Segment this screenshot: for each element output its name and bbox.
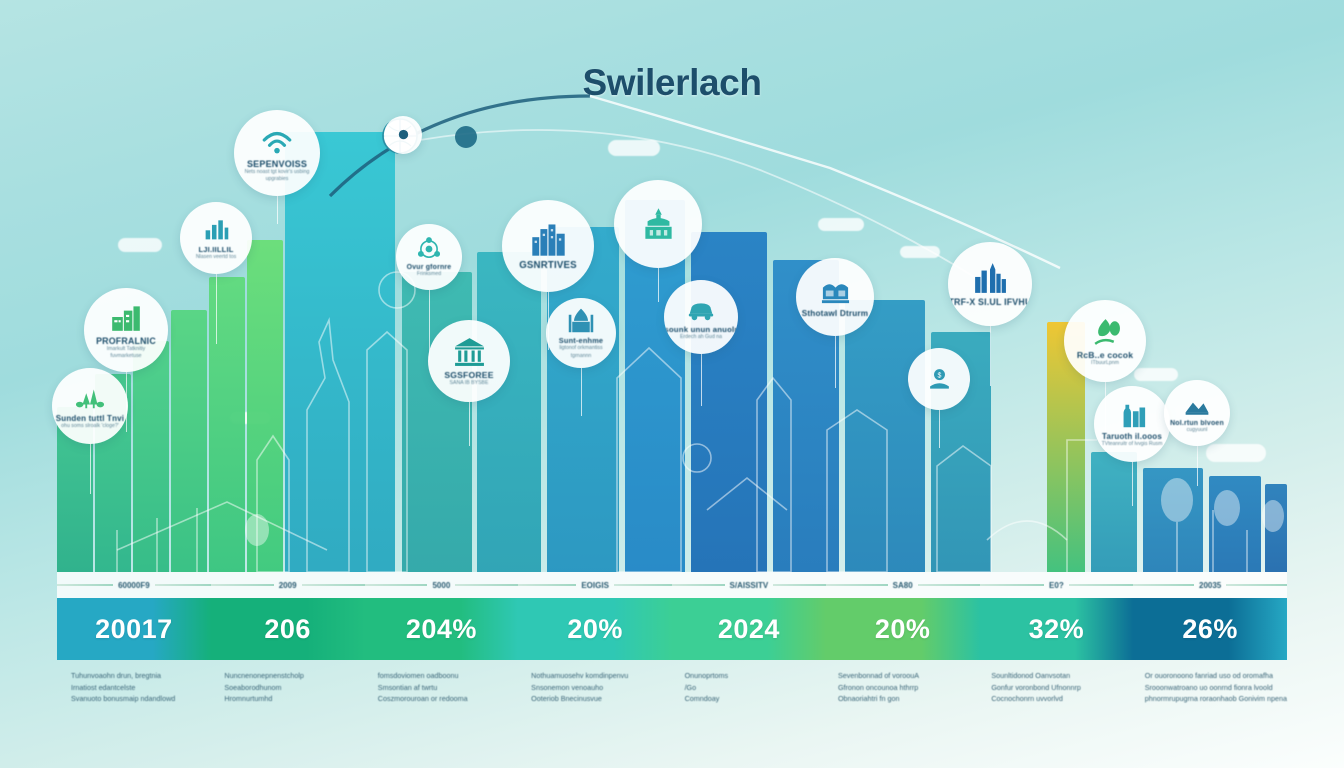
chart-bar bbox=[209, 277, 245, 572]
badge-stem bbox=[90, 444, 91, 494]
tick-line bbox=[365, 584, 428, 586]
badge-stem bbox=[581, 368, 582, 416]
caption-line: Cocnochonrn uvvorlvd bbox=[991, 695, 1130, 702]
landmark-icon bbox=[641, 206, 676, 241]
caption-line: Ooteriob Bnecinusvue bbox=[531, 695, 670, 702]
timeline-segment[interactable]: 20% bbox=[518, 598, 672, 660]
caption-line: Coszmorouroan or redooma bbox=[378, 695, 517, 702]
badge-title: GSNRTIVES bbox=[519, 260, 577, 271]
caption-line: Comndoay bbox=[685, 695, 824, 702]
chart-bars-icon bbox=[202, 214, 231, 243]
chart-bar bbox=[1091, 452, 1137, 572]
badge-title: Ovur gfornre bbox=[407, 264, 452, 271]
badge-stem bbox=[1132, 462, 1133, 506]
badge-title: SGSFOREE bbox=[444, 370, 493, 380]
badge-subtitle: Frinksmed bbox=[417, 271, 441, 278]
badge-stem bbox=[277, 196, 278, 224]
timeline-segment[interactable]: 206 bbox=[211, 598, 365, 660]
tick-label: S/AISSITV bbox=[730, 581, 769, 590]
badge-subtitle: ohu soms slroalk 'cloge?' bbox=[61, 423, 119, 430]
car-vehicle-icon bbox=[686, 293, 716, 323]
badge-stem bbox=[835, 336, 836, 388]
badge-title: NoI.rtun blvoen bbox=[1170, 420, 1224, 427]
caption-line: Onunoprtoms bbox=[685, 672, 824, 679]
caption-line: Nothuamuosehv komdinpenvu bbox=[531, 672, 670, 679]
svg-text:$: $ bbox=[937, 372, 941, 379]
info-badge[interactable]: PROFRALNICImarkult Tatknitiy fuvmarketus… bbox=[84, 288, 168, 372]
badge-stem bbox=[216, 274, 217, 344]
info-badge[interactable]: SGSFOREESANA IB BYSBE bbox=[428, 320, 510, 402]
info-badge[interactable]: Sunden tuttl Tnviohu soms slroalk 'cloge… bbox=[52, 368, 128, 444]
axis-tick: E0? bbox=[980, 581, 1134, 590]
caption-column: Tuhunvoaohn drun, bregtniaIrnatiost edan… bbox=[57, 668, 210, 726]
tick-line bbox=[57, 584, 113, 586]
caption-line: Hromnurtumhd bbox=[224, 695, 363, 702]
caption-column: Sevenbonnad of voroouAGfronon oncounoa h… bbox=[824, 668, 977, 726]
caption-line: Gfronon oncounoa hthrrp bbox=[838, 684, 977, 691]
chart-bar bbox=[1209, 476, 1261, 572]
tick-label: E0? bbox=[1049, 581, 1064, 590]
tick-line bbox=[455, 584, 518, 586]
info-badge[interactable]: LJI.IILLILNlasen veertd tos bbox=[180, 202, 252, 274]
caption-column: NuncnenonepnenstcholpSoeaborodhunomHromn… bbox=[210, 668, 363, 726]
caption-column: Onunoprtoms/GoComndoay bbox=[671, 668, 824, 726]
caption-line: Gonfur voronbond Ufnonnrp bbox=[991, 684, 1130, 691]
caption-line: Soeaborodhunom bbox=[224, 684, 363, 691]
badge-stem bbox=[469, 402, 470, 446]
badge-stem bbox=[1197, 446, 1198, 486]
badge-title: Taruoth il.ooos bbox=[1102, 432, 1162, 441]
chart-bar bbox=[247, 240, 283, 572]
mosque-icon bbox=[567, 306, 595, 334]
badge-title: Sunden tuttl Tnvi bbox=[56, 414, 124, 423]
tick-label: EOIGIS bbox=[581, 581, 609, 590]
timeline-segment[interactable]: 26% bbox=[1133, 598, 1287, 660]
tick-line bbox=[918, 584, 980, 586]
timeline-segment[interactable]: 204% bbox=[365, 598, 519, 660]
city-buildings-icon bbox=[530, 221, 567, 258]
badge-subtitle: Nets noast tgt kovir's usbing upgrabies bbox=[241, 169, 313, 183]
atom-molecule-icon bbox=[416, 236, 442, 262]
caption-line: Snsonemon venoauho bbox=[531, 684, 670, 691]
caption-column: Sounltidonod OanvsotanGonfur voronbond U… bbox=[977, 668, 1130, 726]
chart-bar bbox=[402, 272, 472, 572]
chart-bar bbox=[845, 300, 925, 572]
badge-title: sounk unun anuolr bbox=[664, 325, 737, 334]
timeline-segment[interactable]: 2024 bbox=[672, 598, 826, 660]
badge-title: LJI.IILLIL bbox=[198, 245, 233, 254]
axis-tick: 5000 bbox=[365, 581, 519, 590]
caption-line: Tuhunvoaohn drun, bregtnia bbox=[71, 672, 210, 679]
caption-line: phnormrupugrna roraonhaob Gonivim npena bbox=[1145, 695, 1287, 702]
badge-stem bbox=[658, 268, 659, 302]
info-badge[interactable]: NoI.rtun blvoencugyuunl bbox=[1164, 380, 1230, 446]
info-badge[interactable]: Sthotawl Dtrurm bbox=[796, 258, 874, 336]
tick-label: 60000F9 bbox=[118, 581, 150, 590]
tick-line bbox=[518, 584, 576, 586]
caption-line: Sounltidonod Oanvsotan bbox=[991, 672, 1130, 679]
info-badge[interactable] bbox=[614, 180, 702, 268]
axis-tick: 20035 bbox=[1133, 581, 1287, 590]
caption-column: Nothuamuosehv komdinpenvuSnsonemon venoa… bbox=[517, 668, 670, 726]
infographic-canvas: Swilerlach bbox=[0, 0, 1344, 768]
hand-coin-icon: $ bbox=[927, 366, 952, 391]
caption-line: fomsdoviomen oadboonu bbox=[378, 672, 517, 679]
timeline-segment[interactable]: 20% bbox=[826, 598, 980, 660]
caption-line: Svanuoto bonusmaip ndandlowd bbox=[71, 695, 210, 702]
chart-bar bbox=[133, 341, 169, 572]
caption-line: Sevenbonnad of voroouA bbox=[838, 672, 977, 679]
badge-subtitle: SANA IB BYSBE bbox=[450, 380, 489, 387]
tick-line bbox=[1226, 584, 1287, 586]
caption-column: fomsdoviomen oadboonuSmsontian af twrtuC… bbox=[364, 668, 517, 726]
tick-line bbox=[614, 584, 672, 586]
tick-line bbox=[826, 584, 888, 586]
caption-column: Or ouoronoono fanriad uso od oromafhaSro… bbox=[1131, 668, 1287, 726]
timeline-bar: 20017206204%20%202420%32%26% bbox=[57, 598, 1287, 660]
caption-line: Or ouoronoono fanriad uso od oromafha bbox=[1145, 672, 1287, 679]
tick-line bbox=[211, 584, 274, 586]
badge-stem bbox=[990, 326, 991, 386]
caption-line: Obnaoriahtri fn gon bbox=[838, 695, 977, 702]
badge-stem bbox=[939, 410, 940, 448]
axis-tick: EOIGIS bbox=[518, 581, 672, 590]
factory-icon bbox=[109, 300, 143, 334]
tick-line bbox=[1133, 584, 1194, 586]
info-badge[interactable]: Ovur gfornreFrinksmed bbox=[396, 224, 462, 290]
tick-line bbox=[302, 584, 365, 586]
tick-line bbox=[1069, 584, 1134, 586]
page-title: Swilerlach bbox=[0, 62, 1344, 104]
badge-title: Sunt-enhme bbox=[559, 336, 603, 345]
badge-title: SEPENVOISS bbox=[247, 159, 307, 169]
wifi-signal-icon bbox=[260, 123, 294, 157]
badge-subtitle: Erdech ah Gud na bbox=[680, 334, 722, 341]
info-badge[interactable]: sounk unun anuolrErdech ah Gud na bbox=[664, 280, 738, 354]
caption-line: Srooonwatroano uo oonrnd fionra lvoold bbox=[1145, 684, 1287, 691]
caption-row: Tuhunvoaohn drun, bregtniaIrnatiost edan… bbox=[57, 668, 1287, 726]
chart-bar bbox=[477, 252, 541, 572]
badge-title: TRF-X SI.UL IFVHU bbox=[948, 297, 1031, 307]
tick-label: SA80 bbox=[893, 581, 913, 590]
caption-line: Nuncnenonepnenstcholp bbox=[224, 672, 363, 679]
badge-subtitle: ligtonof orkmantiss tgrnannn bbox=[552, 345, 611, 359]
caption-line: Irnatiost edantcelste bbox=[71, 684, 210, 691]
info-badge[interactable]: SEPENVOISSNets noast tgt kovir's usbing … bbox=[234, 110, 320, 196]
info-badge[interactable]: Taruoth il.ooosTVteanruitr of lvvgis Rus… bbox=[1094, 386, 1170, 462]
tick-line bbox=[773, 584, 826, 586]
badge-title: PROFRALNIC bbox=[96, 336, 156, 346]
info-badge[interactable]: $ bbox=[908, 348, 970, 410]
bank-building-icon bbox=[453, 335, 486, 368]
badge-stem bbox=[701, 354, 702, 406]
info-badge[interactable]: RcB..e cocokITbuurLpnm bbox=[1064, 300, 1146, 382]
axis-tick: 60000F9 bbox=[57, 581, 211, 590]
trees-icon bbox=[75, 382, 105, 412]
caption-line: /Go bbox=[685, 684, 824, 691]
axis-tick: S/AISSITV bbox=[672, 581, 826, 590]
badge-subtitle: Nlasen veertd tos bbox=[196, 254, 236, 261]
badge-subtitle: Imarkult Tatknitiy fuvmarketuse bbox=[91, 346, 162, 360]
tick-line bbox=[672, 584, 725, 586]
chart-bar bbox=[1143, 468, 1203, 572]
chart-bar bbox=[1265, 484, 1287, 572]
badge-subtitle: ITbuurLpnm bbox=[1091, 360, 1119, 367]
info-badge[interactable] bbox=[384, 116, 422, 154]
info-badge[interactable]: TRF-X SI.UL IFVHU bbox=[948, 242, 1032, 326]
info-badge[interactable]: Sunt-enhmeligtonof orkmantiss tgrnannn bbox=[546, 298, 616, 368]
info-badge[interactable]: GSNRTIVES bbox=[502, 200, 594, 292]
badge-title: Sthotawl Dtrurm bbox=[802, 309, 869, 318]
bottles-icon bbox=[1117, 400, 1147, 430]
tick-line bbox=[155, 584, 211, 586]
chart-bar bbox=[285, 132, 395, 572]
badge-subtitle: TVteanruitr of lvvgis Rusm bbox=[1102, 441, 1163, 448]
hill-landscape-icon bbox=[1184, 392, 1210, 418]
tick-label: 2009 bbox=[279, 581, 297, 590]
axis-tick: SA80 bbox=[826, 581, 980, 590]
axis-tick: 2009 bbox=[211, 581, 365, 590]
badge-subtitle: cugyuunl bbox=[1187, 427, 1208, 434]
timeline-axis: 60000F920095000EOIGISS/AISSITVSA80E0?200… bbox=[57, 572, 1287, 598]
tick-label: 20035 bbox=[1199, 581, 1221, 590]
globe-node-icon bbox=[396, 127, 411, 142]
timeline-segment[interactable]: 32% bbox=[980, 598, 1134, 660]
caption-line: Smsontian af twrtu bbox=[378, 684, 517, 691]
timeline-segment[interactable]: 20017 bbox=[57, 598, 211, 660]
tick-line bbox=[980, 584, 1045, 586]
skyline-blue-icon bbox=[973, 261, 1007, 295]
chart-bar bbox=[171, 310, 207, 572]
stadium-icon bbox=[820, 276, 851, 307]
tick-label: 5000 bbox=[432, 581, 450, 590]
recycle-leaf-icon bbox=[1089, 315, 1122, 348]
badge-title: RcB..e cocok bbox=[1077, 350, 1133, 360]
